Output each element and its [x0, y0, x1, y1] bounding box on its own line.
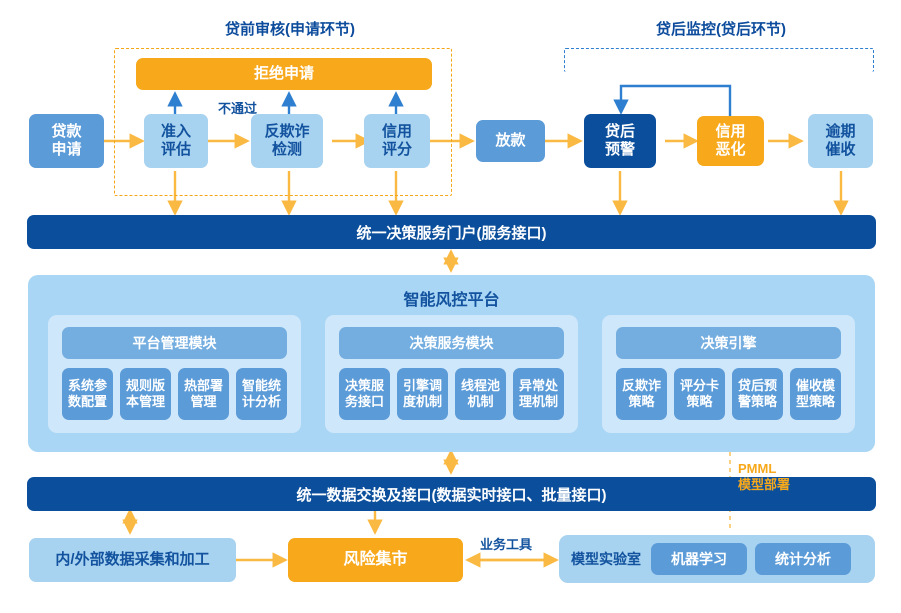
chip-rule-version-management[interactable]: 规则版 本管理: [120, 368, 171, 420]
model-lab-panel: 模型实验室 机器学习 统计分析: [559, 535, 875, 583]
node-admission-assessment[interactable]: 准入 评估: [144, 114, 208, 168]
platform-title: 智能风控平台: [28, 286, 875, 310]
node-risk-mart[interactable]: 风险集市: [288, 538, 463, 582]
model-lab-title: 模型实验室: [571, 549, 641, 569]
chip-collection-model-strategy[interactable]: 催收模 型策略: [790, 368, 841, 420]
module-header: 决策服务模块: [339, 327, 564, 359]
lab-chip-machine-learning[interactable]: 机器学习: [651, 543, 747, 575]
chip-hot-deployment-management[interactable]: 热部署 管理: [178, 368, 229, 420]
module-header: 平台管理模块: [62, 327, 287, 359]
chip-decision-service-interface[interactable]: 决策服 务接口: [339, 368, 390, 420]
node-data-collection-processing[interactable]: 内/外部数据采集和加工: [29, 538, 236, 582]
node-credit-deterioration[interactable]: 信用 恶化: [697, 116, 764, 166]
post-loan-group-frame: [564, 48, 874, 72]
chip-post-loan-alert-strategy[interactable]: 贷后预 警策略: [732, 368, 783, 420]
lab-chip-statistical-analysis[interactable]: 统计分析: [755, 543, 851, 575]
section-title-post-loan: 贷后监控(贷后环节): [626, 18, 816, 39]
module-header: 决策引擎: [616, 327, 841, 359]
chip-thread-pool-mechanism[interactable]: 线程池 机制: [455, 368, 506, 420]
chip-exception-handling-mechanism[interactable]: 异常处 理机制: [513, 368, 564, 420]
unified-decision-portal-bar[interactable]: 统一决策服务门户(服务接口): [27, 215, 876, 249]
module-platform-management: 平台管理模块 系统参 数配置 规则版 本管理 热部署 管理 智能统 计分析: [48, 315, 301, 433]
pmml-deployment-label: PMML 模型部署: [738, 461, 790, 494]
edge-label-fail: 不通过: [218, 98, 257, 117]
node-fraud-detection[interactable]: 反欺诈 检测: [251, 114, 323, 168]
node-loan-application[interactable]: 贷款 申请: [29, 114, 104, 168]
chip-anti-fraud-strategy[interactable]: 反欺诈 策略: [616, 368, 667, 420]
node-reject-application[interactable]: 拒绝申请: [136, 58, 432, 90]
section-title-pre-loan: 贷前审核(申请环节): [195, 18, 385, 39]
node-disbursement[interactable]: 放款: [476, 120, 545, 162]
node-post-loan-alert[interactable]: 贷后 预警: [584, 114, 656, 168]
node-credit-scoring[interactable]: 信用 评分: [364, 114, 430, 168]
chip-scorecard-strategy[interactable]: 评分卡 策略: [674, 368, 725, 420]
module-decision-engine: 决策引擎 反欺诈 策略 评分卡 策略 贷后预 警策略 催收模 型策略: [602, 315, 855, 433]
chip-engine-scheduling-mechanism[interactable]: 引擎调 度机制: [397, 368, 448, 420]
architecture-diagram: 贷前审核(申请环节) 贷后监控(贷后环节) 拒绝申请 不通过 贷款 申请 准入 …: [0, 0, 901, 613]
module-decision-service: 决策服务模块 决策服 务接口 引擎调 度机制 线程池 机制 异常处 理机制: [325, 315, 578, 433]
edge-label-business-tool: 业务工具: [480, 534, 532, 553]
chip-intelligent-statistics-analysis[interactable]: 智能统 计分析: [236, 368, 287, 420]
node-overdue-collection[interactable]: 逾期 催收: [808, 114, 873, 168]
chip-system-parameter-config[interactable]: 系统参 数配置: [62, 368, 113, 420]
